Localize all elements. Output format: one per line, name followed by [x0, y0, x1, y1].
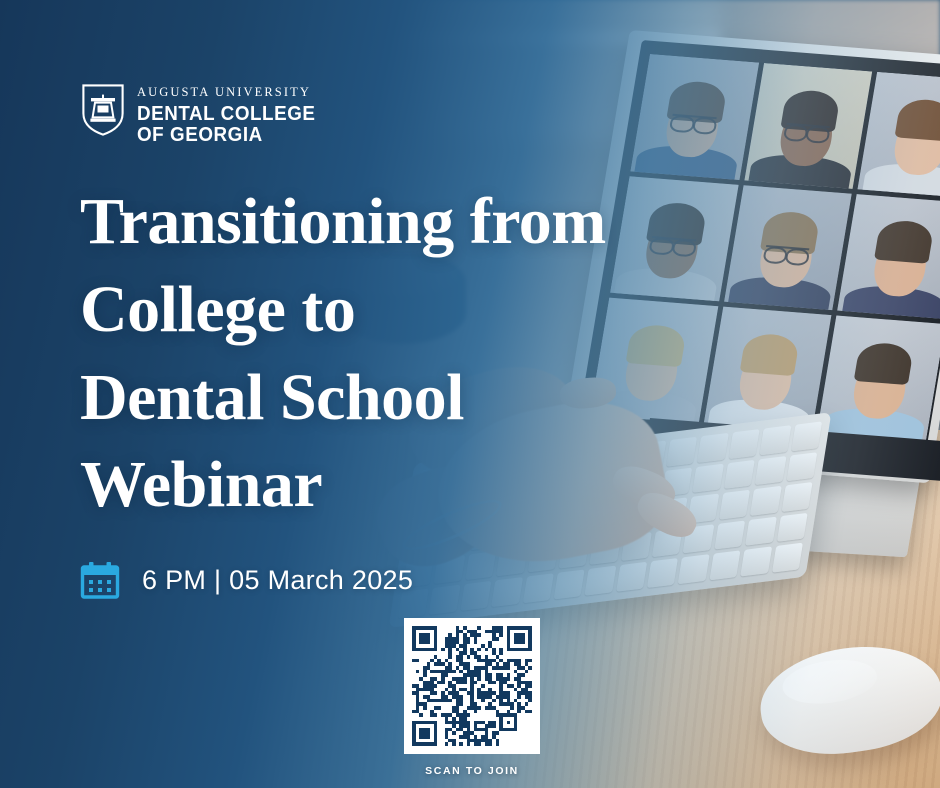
flyer-content: AUGUSTA UNIVERSITY DENTAL COLLEGE OF GEO… — [0, 0, 940, 788]
datetime-text: 6 PM | 05 March 2025 — [142, 565, 413, 596]
title-line-3: Dental School — [80, 354, 640, 442]
calendar-icon — [80, 560, 120, 600]
shield-crest-icon — [82, 84, 124, 136]
augusta-university-logo: AUGUSTA UNIVERSITY DENTAL COLLEGE OF GEO… — [82, 84, 327, 147]
logo-university-name: AUGUSTA UNIVERSITY — [137, 86, 327, 99]
scan-to-join-label: SCAN TO JOIN — [404, 765, 540, 777]
webinar-flyer: AUGUSTA UNIVERSITY DENTAL COLLEGE OF GEO… — [0, 0, 940, 788]
title-line-2: College to — [80, 266, 640, 354]
logo-college-line-2: OF GEORGIA — [137, 125, 315, 147]
qr-code[interactable] — [404, 618, 540, 754]
title-line-4: Webinar — [80, 441, 640, 529]
page-title: Transitioning from College to Dental Sch… — [80, 178, 640, 529]
event-datetime: 6 PM | 05 March 2025 — [80, 560, 413, 600]
logo-college-line-1: DENTAL COLLEGE — [137, 104, 315, 126]
title-line-1: Transitioning from — [80, 178, 640, 266]
qr-section: SCAN TO JOIN — [404, 618, 540, 777]
